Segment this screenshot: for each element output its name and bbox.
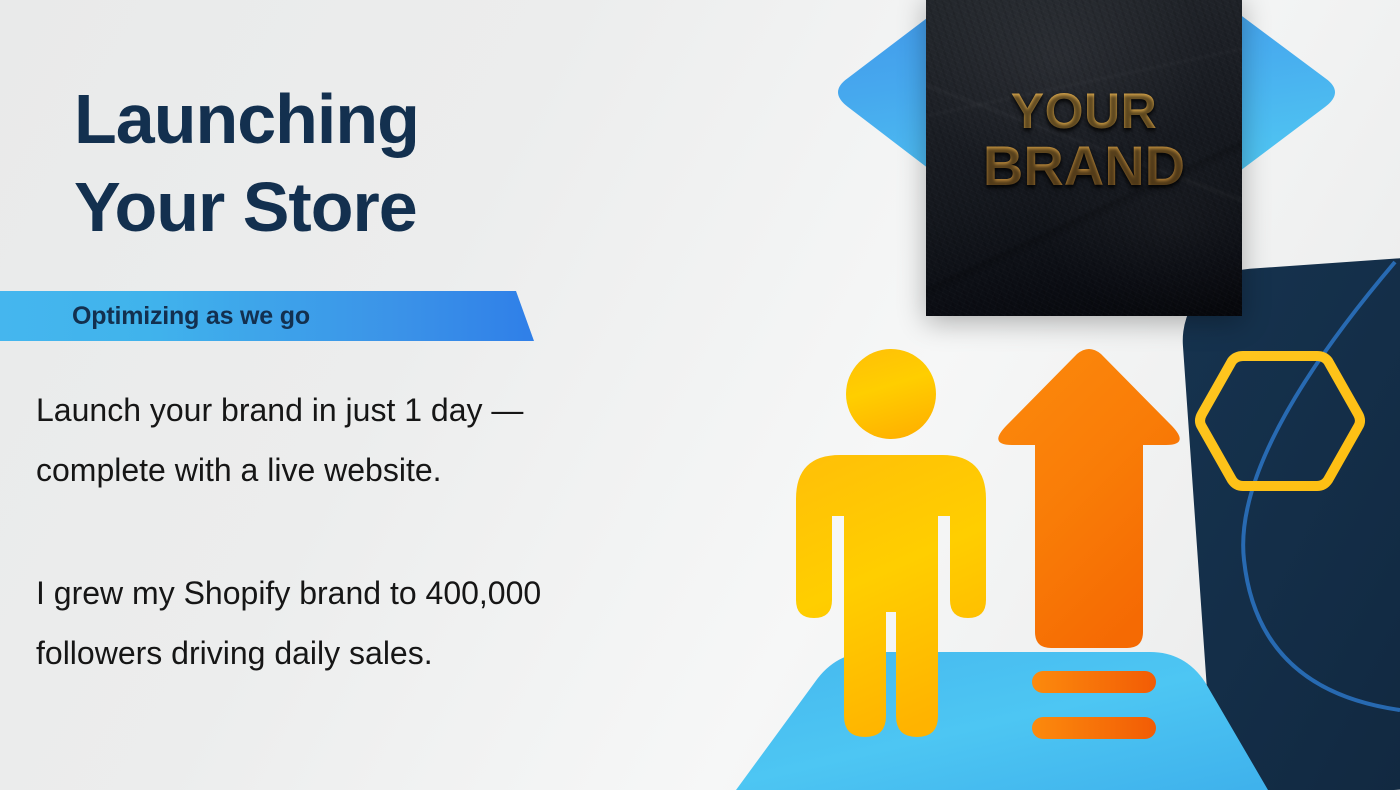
brand-panel-text: YOUR BRAND xyxy=(926,86,1242,194)
yellow-hexagon-outline xyxy=(1200,356,1360,486)
up-arrow-icon xyxy=(998,349,1179,648)
navy-rounded-shape xyxy=(1178,251,1400,790)
page-title: Launching Your Store xyxy=(74,76,714,251)
slide-canvas: YOUR BRAND Launching Your Store Optimizi… xyxy=(0,0,1400,790)
body-paragraph-2: I grew my Shopify brand to 400,000 follo… xyxy=(36,563,716,683)
brand-panel-line-1: YOUR xyxy=(926,86,1242,137)
brand-panel-line-2: BRAND xyxy=(926,137,1242,194)
subtitle-banner-label: Optimizing as we go xyxy=(72,302,310,331)
orange-bar xyxy=(1032,717,1156,739)
brand-image-panel: YOUR BRAND xyxy=(926,0,1242,316)
blue-platform-shape xyxy=(736,652,1268,790)
body-paragraph-1: Launch your brand in just 1 day — comple… xyxy=(36,380,716,500)
person-figure-icon xyxy=(796,349,986,737)
orange-bar xyxy=(1032,671,1156,693)
subtitle-banner: Optimizing as we go xyxy=(0,291,534,341)
